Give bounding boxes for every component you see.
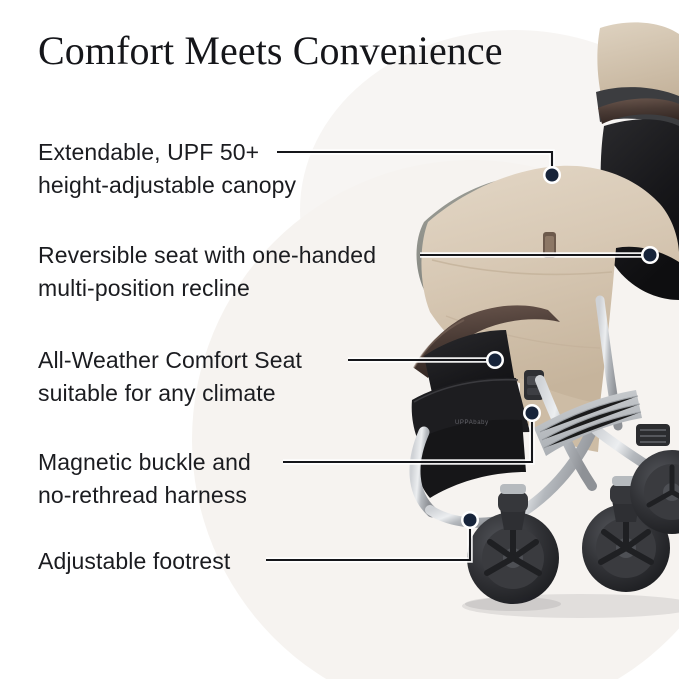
leader-dot-adjustable-footrest — [464, 514, 477, 527]
feature-reversible-seat-line1: Reversible seat with one-handed — [38, 242, 376, 268]
leader-dot-halo-comfort-seat — [486, 351, 504, 369]
feature-label-comfort-seat: All-Weather Comfort Seat suitable for an… — [38, 344, 302, 410]
front-wheel — [467, 484, 559, 604]
feature-label-reversible-seat: Reversible seat with one-handed multi-po… — [38, 239, 376, 305]
leader-dot-comfort-seat — [489, 354, 502, 367]
brake-pedal — [636, 424, 670, 446]
brand-mark: UPPAbaby — [455, 420, 489, 426]
feature-adjustable-footrest-line1: Adjustable footrest — [38, 548, 230, 574]
feature-label-canopy: Extendable, UPF 50+ height-adjustable ca… — [38, 136, 296, 202]
bumper-bar — [414, 305, 560, 378]
page-title: Comfort Meets Convenience — [38, 27, 503, 75]
feature-canopy-line1: Extendable, UPF 50+ — [38, 139, 259, 165]
feature-magnetic-buckle-line2: no-rethread harness — [38, 479, 251, 512]
leader-line-magnetic-buckle — [283, 420, 532, 462]
leader-dot-halo-adjustable-footrest — [461, 511, 479, 529]
canopy-pull-tab — [543, 232, 556, 258]
leader-dot-halo-magnetic-buckle — [523, 404, 541, 422]
feature-label-adjustable-footrest: Adjustable footrest — [38, 545, 230, 578]
rear-seat-unit — [596, 22, 679, 300]
leader-dot-reversible-seat — [644, 249, 657, 262]
harness-buckle — [524, 370, 544, 400]
leader-line-adjustable-footrest — [266, 527, 470, 560]
backdrop-shape-top — [300, 30, 679, 390]
feature-comfort-seat-line1: All-Weather Comfort Seat — [38, 347, 302, 373]
rear-wheel-back — [630, 450, 679, 534]
canopy — [417, 166, 679, 452]
backdrop-shape-main — [192, 160, 679, 679]
leader-line-canopy — [277, 152, 552, 168]
leader-dot-halo-canopy — [543, 166, 561, 184]
leader-dot-halo-reversible-seat — [641, 246, 659, 264]
feature-reversible-seat-line2: multi-position recline — [38, 272, 376, 305]
feature-comfort-seat-line2: suitable for any climate — [38, 377, 302, 410]
storage-basket — [534, 390, 642, 456]
seat: UPPAbaby — [412, 330, 544, 498]
leader-dot-magnetic-buckle — [526, 407, 539, 420]
feature-canopy-line2: height-adjustable canopy — [38, 169, 296, 202]
product-feature-infographic: UPPAbaby — [0, 0, 679, 679]
feature-label-magnetic-buckle: Magnetic buckle and no-rethread harness — [38, 446, 251, 512]
feature-magnetic-buckle-line1: Magnetic buckle and — [38, 449, 251, 475]
leader-dot-canopy — [546, 169, 559, 182]
stroller-frame — [415, 300, 672, 523]
rear-wheel-right — [582, 476, 670, 592]
